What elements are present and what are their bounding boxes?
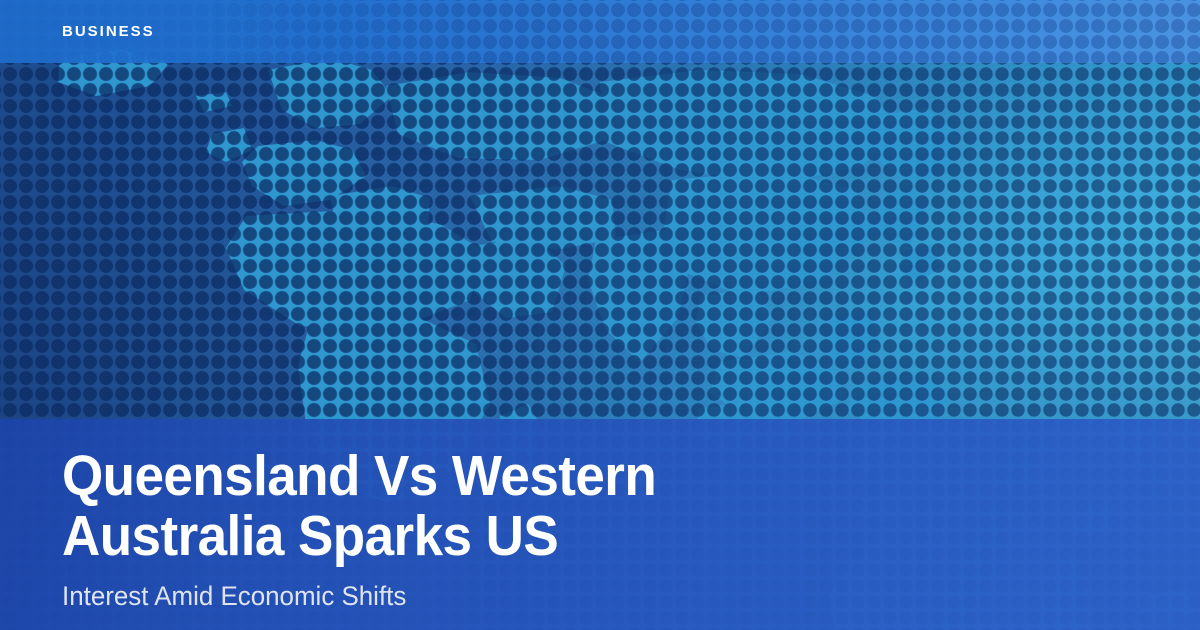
headline-block: Queensland Vs Western Australia Sparks U… <box>62 446 1062 613</box>
social-share-card: BUSINESS Queensland Vs Western Australia… <box>0 0 1200 630</box>
category-band-dot-texture <box>0 0 1200 63</box>
subheadline-text: Interest Amid Economic Shifts <box>62 580 1022 613</box>
headline-text: Queensland Vs Western Australia Sparks U… <box>62 446 750 566</box>
category-label: BUSINESS <box>62 22 155 42</box>
